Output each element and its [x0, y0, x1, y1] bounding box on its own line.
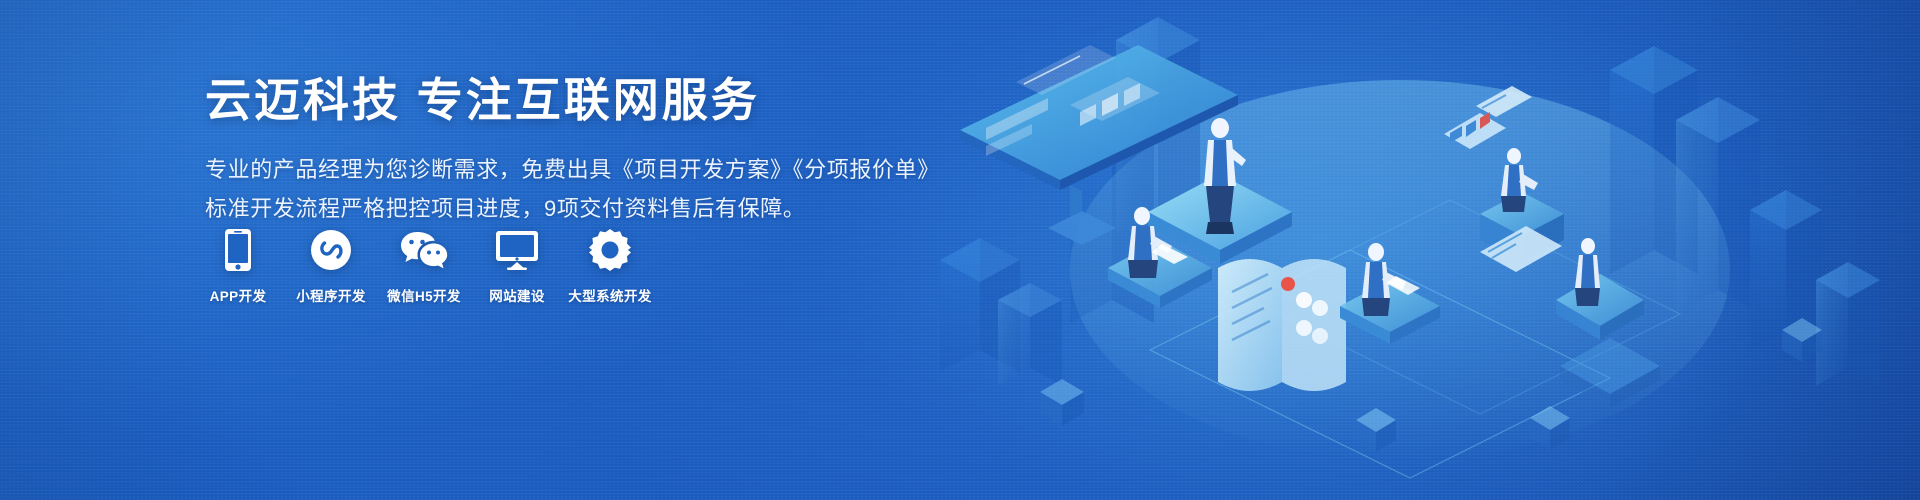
- gear-icon: [589, 228, 631, 272]
- service-list: APP开发 小程序开发 微信: [203, 228, 645, 305]
- wechat-icon: [400, 228, 448, 272]
- banner-subtitle: 专业的产品经理为您诊断需求，免费出具《项目开发方案》《分项报价单》 标准开发流程…: [205, 152, 905, 227]
- subtitle-line-2: 标准开发流程严格把控项目进度，9项交付资料售后有保障。: [205, 191, 905, 227]
- service-label: 大型系统开发: [568, 285, 651, 305]
- service-item-large-system[interactable]: 大型系统开发: [575, 228, 645, 305]
- page-title: 云迈科技 专注互联网服务: [205, 72, 905, 130]
- service-label: 小程序开发: [296, 285, 366, 305]
- isometric-tech-illustration: [920, 0, 1920, 500]
- service-item-wechat-h5[interactable]: 微信H5开发: [389, 228, 459, 305]
- service-item-mini-program[interactable]: 小程序开发: [296, 228, 366, 305]
- monitor-icon: [495, 228, 539, 272]
- service-label: APP开发: [210, 285, 267, 305]
- subtitle-line-1: 专业的产品经理为您诊断需求，免费出具《项目开发方案》《分项报价单》: [205, 152, 905, 188]
- hero-banner: 云迈科技 专注互联网服务 专业的产品经理为您诊断需求，免费出具《项目开发方案》《…: [0, 0, 1920, 500]
- service-item-website[interactable]: 网站建设: [482, 228, 552, 305]
- mobile-phone-icon: [223, 228, 253, 272]
- service-label: 微信H5开发: [387, 285, 461, 305]
- mini-program-icon: [310, 228, 352, 272]
- service-item-app[interactable]: APP开发: [203, 228, 273, 305]
- banner-copy: 云迈科技 专注互联网服务 专业的产品经理为您诊断需求，免费出具《项目开发方案》《…: [205, 72, 905, 227]
- service-label: 网站建设: [489, 285, 545, 305]
